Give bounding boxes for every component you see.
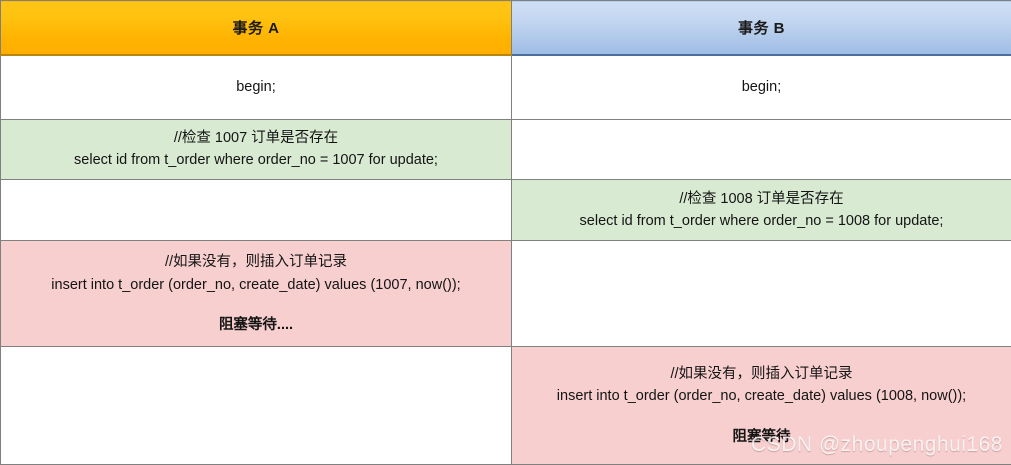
table-row: //检查 1008 订单是否存在 select id from t_order …: [1, 180, 1011, 241]
cell-line-spacer: [520, 408, 1003, 426]
table-row: //如果没有，则插入订单记录 insert into t_order (orde…: [1, 347, 1011, 465]
cell-line-sql: select id from t_order where order_no = …: [520, 210, 1003, 232]
cell-line-comment: //检查 1007 订单是否存在: [9, 127, 503, 149]
header-row: 事务 A 事务 B: [1, 1, 1011, 56]
cell-a-empty-1: [1, 180, 512, 241]
table-row: //如果没有，则插入订单记录 insert into t_order (orde…: [1, 241, 1011, 347]
cell-b-begin: begin;: [512, 55, 1011, 119]
cell-line-sql: insert into t_order (order_no, create_da…: [520, 385, 1003, 407]
cell-line-sql: insert into t_order (order_no, create_da…: [9, 274, 503, 296]
cell-a-check-1007: //检查 1007 订单是否存在 select id from t_order …: [1, 119, 512, 180]
cell-b-insert-1008: //如果没有，则插入订单记录 insert into t_order (orde…: [512, 347, 1011, 465]
cell-a-begin: begin;: [1, 55, 512, 119]
cell-b-empty-2: [512, 241, 1011, 347]
txn-comparison-table: 事务 A 事务 B begin; begin; //检查 1007 订单是否存在…: [0, 0, 1011, 465]
cell-line-comment: //如果没有，则插入订单记录: [9, 251, 503, 273]
table-row: //检查 1007 订单是否存在 select id from t_order …: [1, 119, 1011, 180]
transaction-deadlock-table: 事务 A 事务 B begin; begin; //检查 1007 订单是否存在…: [0, 0, 1011, 465]
header-transaction-a: 事务 A: [1, 1, 512, 56]
cell-b-empty-1: [512, 119, 1011, 180]
cell-line-comment: //如果没有，则插入订单记录: [520, 363, 1003, 385]
table-head: 事务 A 事务 B: [1, 1, 1011, 56]
cell-line: begin;: [9, 76, 503, 98]
cell-b-check-1008: //检查 1008 订单是否存在 select id from t_order …: [512, 180, 1011, 241]
cell-a-empty-2: [1, 347, 512, 465]
cell-line-sql: select id from t_order where order_no = …: [9, 149, 503, 171]
cell-line-comment: //检查 1008 订单是否存在: [520, 188, 1003, 210]
cell-line-blocked: 阻塞等待....: [9, 314, 503, 336]
cell-a-insert-1007: //如果没有，则插入订单记录 insert into t_order (orde…: [1, 241, 512, 347]
table-row: begin; begin;: [1, 55, 1011, 119]
header-transaction-b: 事务 B: [512, 1, 1011, 56]
table-body: begin; begin; //检查 1007 订单是否存在 select id…: [1, 55, 1011, 465]
cell-line-spacer: [9, 296, 503, 314]
cell-line-blocked: 阻塞等待: [520, 426, 1003, 448]
cell-line: begin;: [520, 76, 1003, 98]
